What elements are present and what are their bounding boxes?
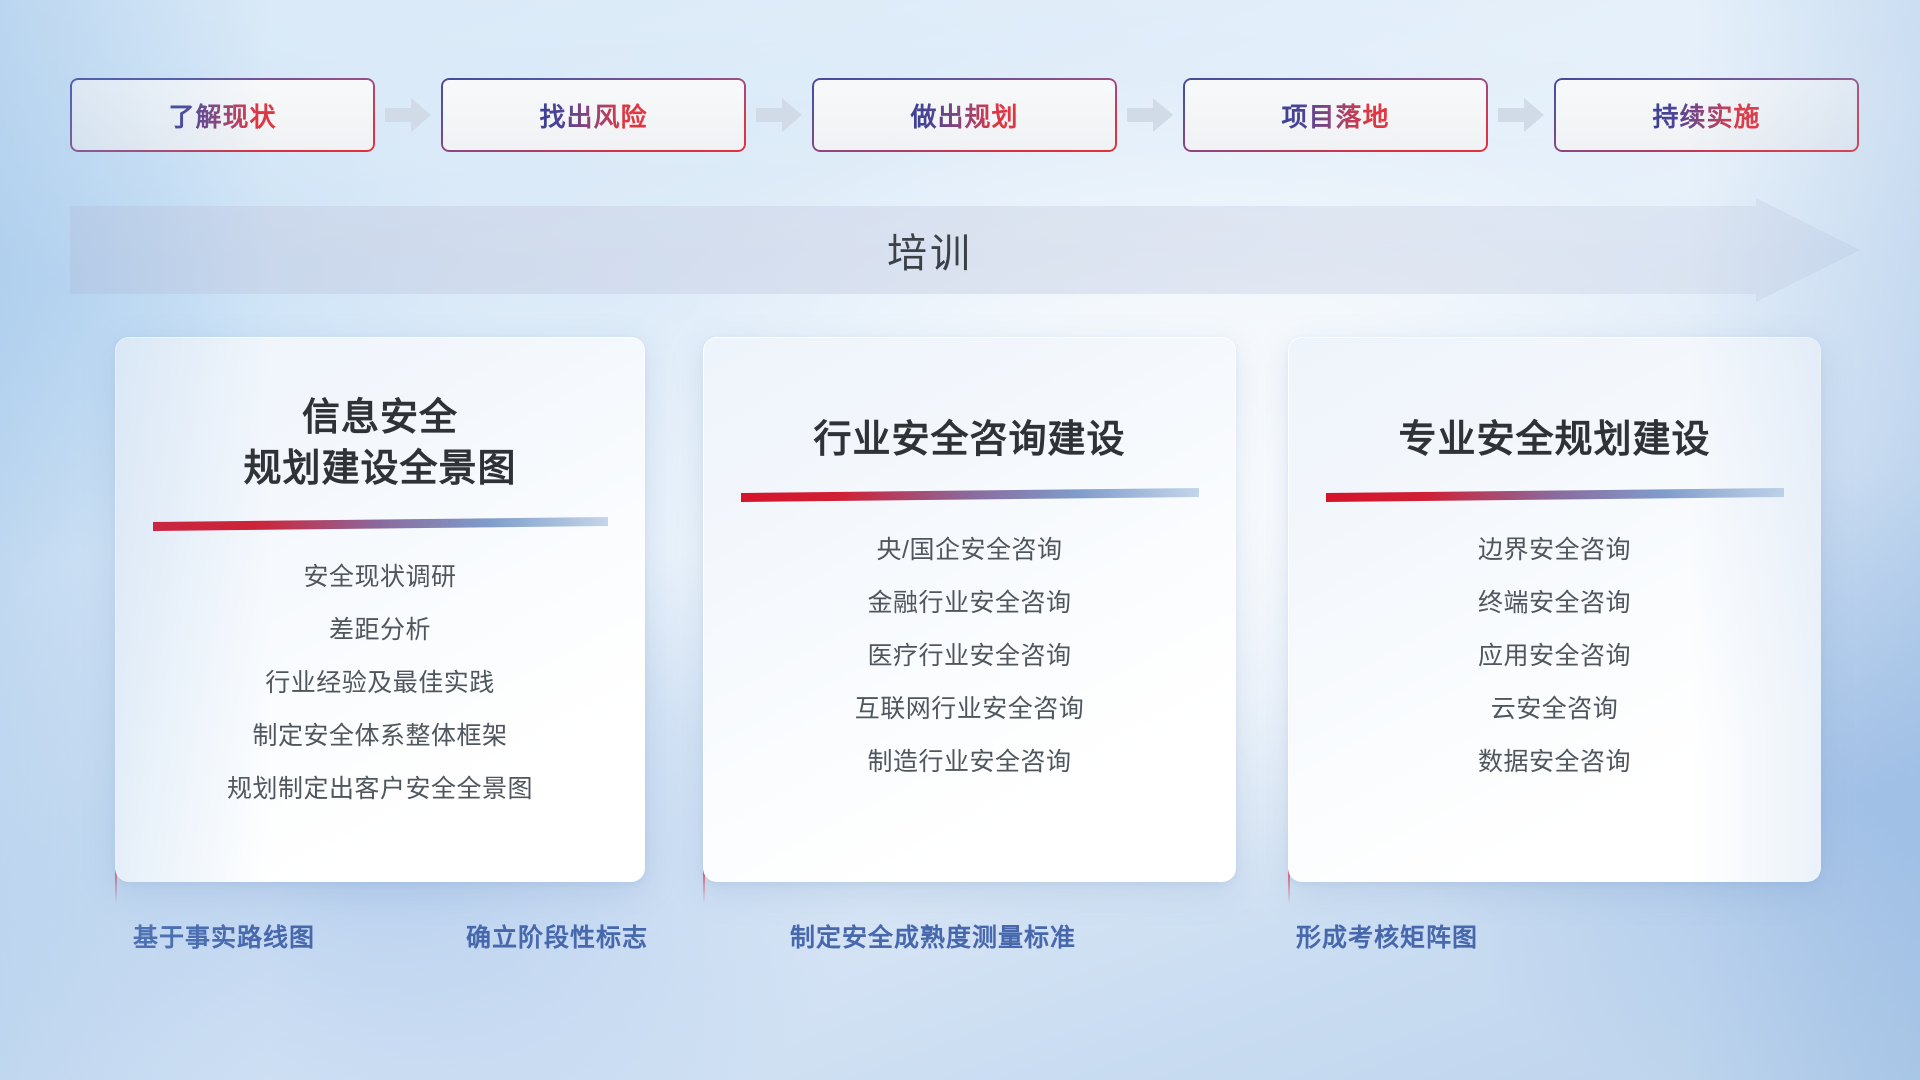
list-item: 行业经验及最佳实践 [265,663,495,699]
process-step-3[interactable]: 做出规划 [812,78,1117,152]
list-item: 制定安全体系整体框架 [252,716,507,752]
list-item: 应用安全咨询 [1478,636,1631,672]
card-item-list: 安全现状调研 差距分析 行业经验及最佳实践 制定安全体系整体框架 规划制定出客户… [227,557,533,805]
card-divider-icon [1326,488,1784,502]
arrow-right-icon [375,78,441,152]
process-step-label: 做出规划 [910,97,1018,134]
list-item: 央/国企安全咨询 [877,530,1063,566]
process-step-5[interactable]: 持续实施 [1554,78,1859,152]
list-item: 互联网行业安全咨询 [855,689,1085,725]
bottom-label-row: 基于事实路线图 确立阶段性标志 制定安全成熟度测量标准 形成考核矩阵图 [0,918,1920,968]
bottom-label: 制定安全成熟度测量标准 [790,918,1076,954]
list-item: 医疗行业安全咨询 [867,636,1071,672]
process-step-label: 持续实施 [1652,97,1760,134]
list-item: 差距分析 [329,610,431,646]
list-item: 终端安全咨询 [1478,583,1631,619]
card-divider-icon [741,488,1199,502]
card-title: 行业安全咨询建设 [813,415,1125,466]
process-step-2[interactable]: 找出风险 [441,78,746,152]
process-step-1[interactable]: 了解现状 [70,78,375,152]
bottom-label: 确立阶段性标志 [466,918,648,954]
process-step-4[interactable]: 项目落地 [1183,78,1488,152]
process-step-label: 找出风险 [539,97,647,134]
process-flow-row: 了解现状 找出风险 做出规划 项目落地 [70,78,1860,152]
card-title: 专业安全规划建设 [1398,415,1710,466]
cards-row: 信息安全 规划建设全景图 [0,337,1920,893]
list-item: 云安全咨询 [1491,689,1619,725]
process-step-label: 了解现状 [168,97,276,134]
arrow-right-icon [1488,78,1554,152]
card-professional-security-planning[interactable]: 专业安全规划建设 [1288,337,1821,882]
card-item-list: 央/国企安全咨询 金融行业安全咨询 医疗行业安全咨询 互联网行业安全咨询 制造行… [855,530,1085,778]
list-item: 安全现状调研 [303,557,456,593]
list-item: 数据安全咨询 [1478,742,1631,778]
bottom-label: 形成考核矩阵图 [1296,918,1478,954]
card-title: 信息安全 规划建设全景图 [243,389,516,495]
list-item: 金融行业安全咨询 [867,583,1071,619]
card-information-security-blueprint[interactable]: 信息安全 规划建设全景图 [115,337,645,882]
slide-canvas: 了解现状 找出风险 做出规划 项目落地 [0,0,1920,1080]
card-item-list: 边界安全咨询 终端安全咨询 应用安全咨询 云安全咨询 数据安全咨询 [1478,530,1631,778]
training-banner-label: 培训 [70,198,1790,302]
arrow-right-icon [746,78,812,152]
list-item: 规划制定出客户安全全景图 [227,769,533,805]
card-industry-security-consulting[interactable]: 行业安全咨询建设 [703,337,1236,882]
list-item: 制造行业安全咨询 [867,742,1071,778]
bottom-label: 基于事实路线图 [133,918,315,954]
card-divider-icon [153,517,608,531]
list-item: 边界安全咨询 [1478,530,1631,566]
arrow-right-icon [1117,78,1183,152]
process-step-label: 项目落地 [1281,97,1389,134]
